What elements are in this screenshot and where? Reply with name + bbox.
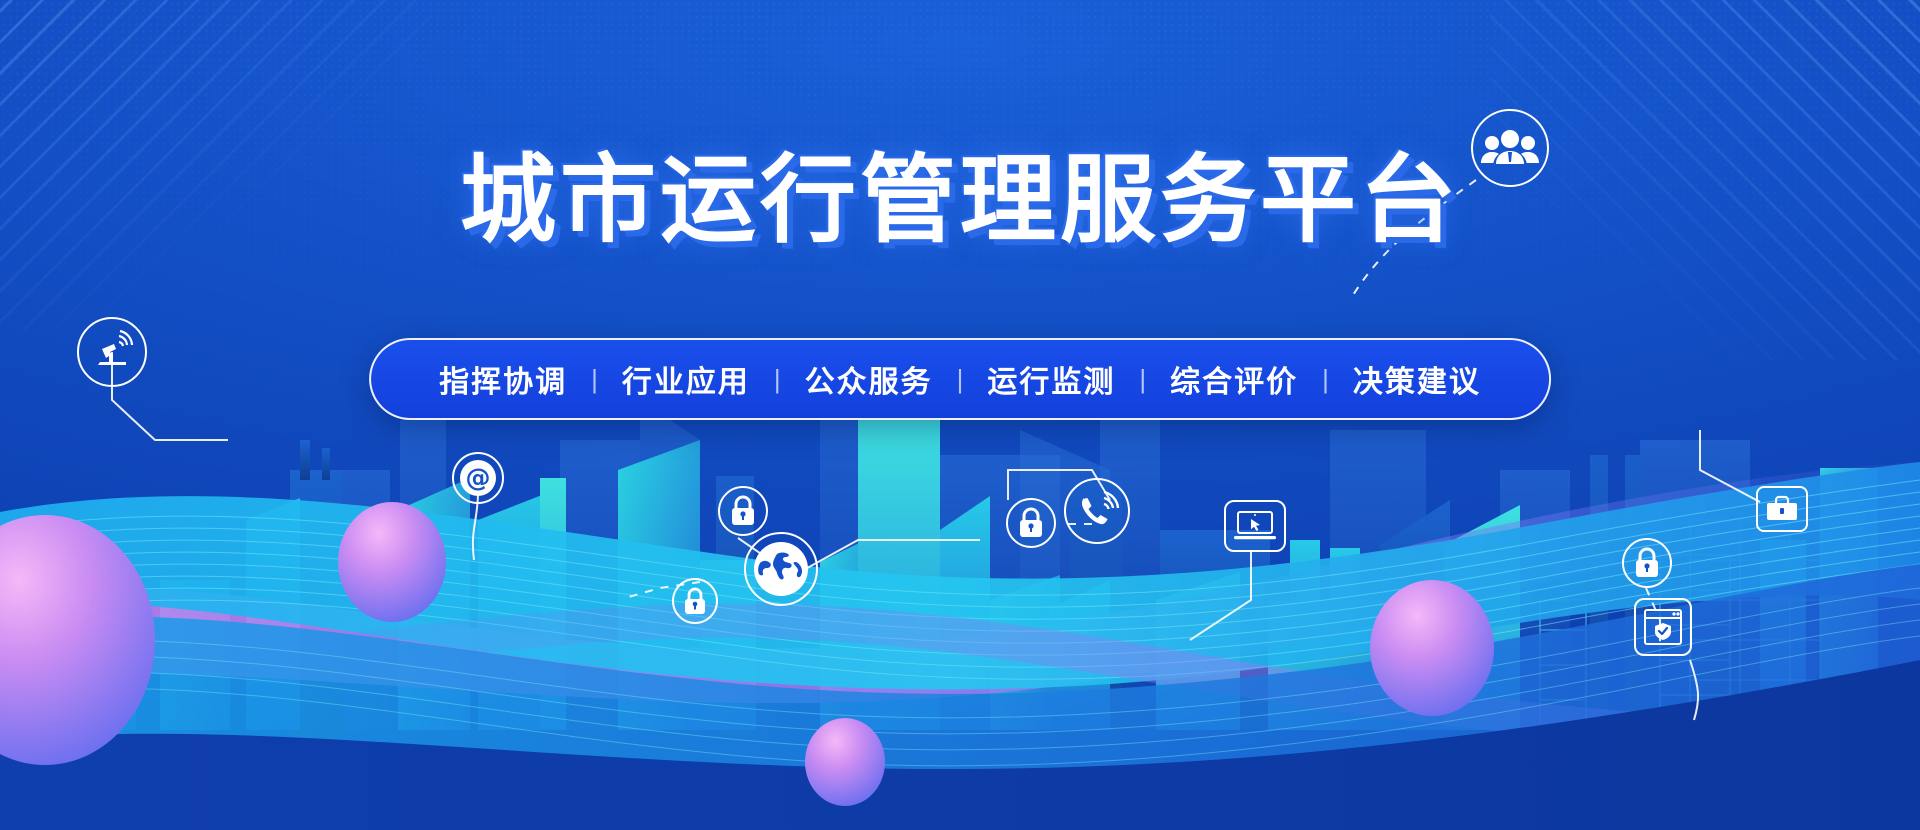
lock-icon[interactable] xyxy=(1622,538,1672,588)
phone-call-icon[interactable] xyxy=(1064,478,1130,544)
nav-separator: | xyxy=(1320,364,1331,395)
city-platform-banner: @ xyxy=(0,0,1920,830)
nav-separator: | xyxy=(589,364,600,395)
satellite-dish-icon[interactable] xyxy=(76,316,148,388)
nav-item-3[interactable]: 公众服务 xyxy=(783,357,955,401)
at-email-icon[interactable]: @ xyxy=(452,452,504,504)
nav-item-6[interactable]: 决策建议 xyxy=(1331,357,1503,401)
lock-icon[interactable] xyxy=(1006,498,1056,548)
nav-item-2[interactable]: 行业应用 xyxy=(600,357,772,401)
nav-separator: | xyxy=(1137,364,1148,395)
banner-title-wrap: 城市运行管理服务平台 xyxy=(0,152,1920,248)
nav-separator: | xyxy=(955,364,966,395)
lock-icon[interactable] xyxy=(718,486,768,536)
nav-item-5[interactable]: 综合评价 xyxy=(1148,357,1320,401)
nav-item-4[interactable]: 运行监测 xyxy=(965,357,1137,401)
globe-icon[interactable] xyxy=(744,532,818,606)
nav-item-1[interactable]: 指挥协调 xyxy=(417,357,589,401)
page-title: 城市运行管理服务平台 xyxy=(460,152,1460,248)
browser-shield-icon[interactable] xyxy=(1634,598,1692,656)
lock-icon[interactable] xyxy=(672,578,718,624)
briefcase-icon[interactable] xyxy=(1756,486,1808,532)
primary-nav[interactable]: 指挥协调|行业应用|公众服务|运行监测|综合评价|决策建议 xyxy=(369,338,1551,420)
nav-separator: | xyxy=(772,364,783,395)
laptop-cursor-icon[interactable] xyxy=(1224,500,1286,552)
svg-text:@: @ xyxy=(466,463,491,492)
